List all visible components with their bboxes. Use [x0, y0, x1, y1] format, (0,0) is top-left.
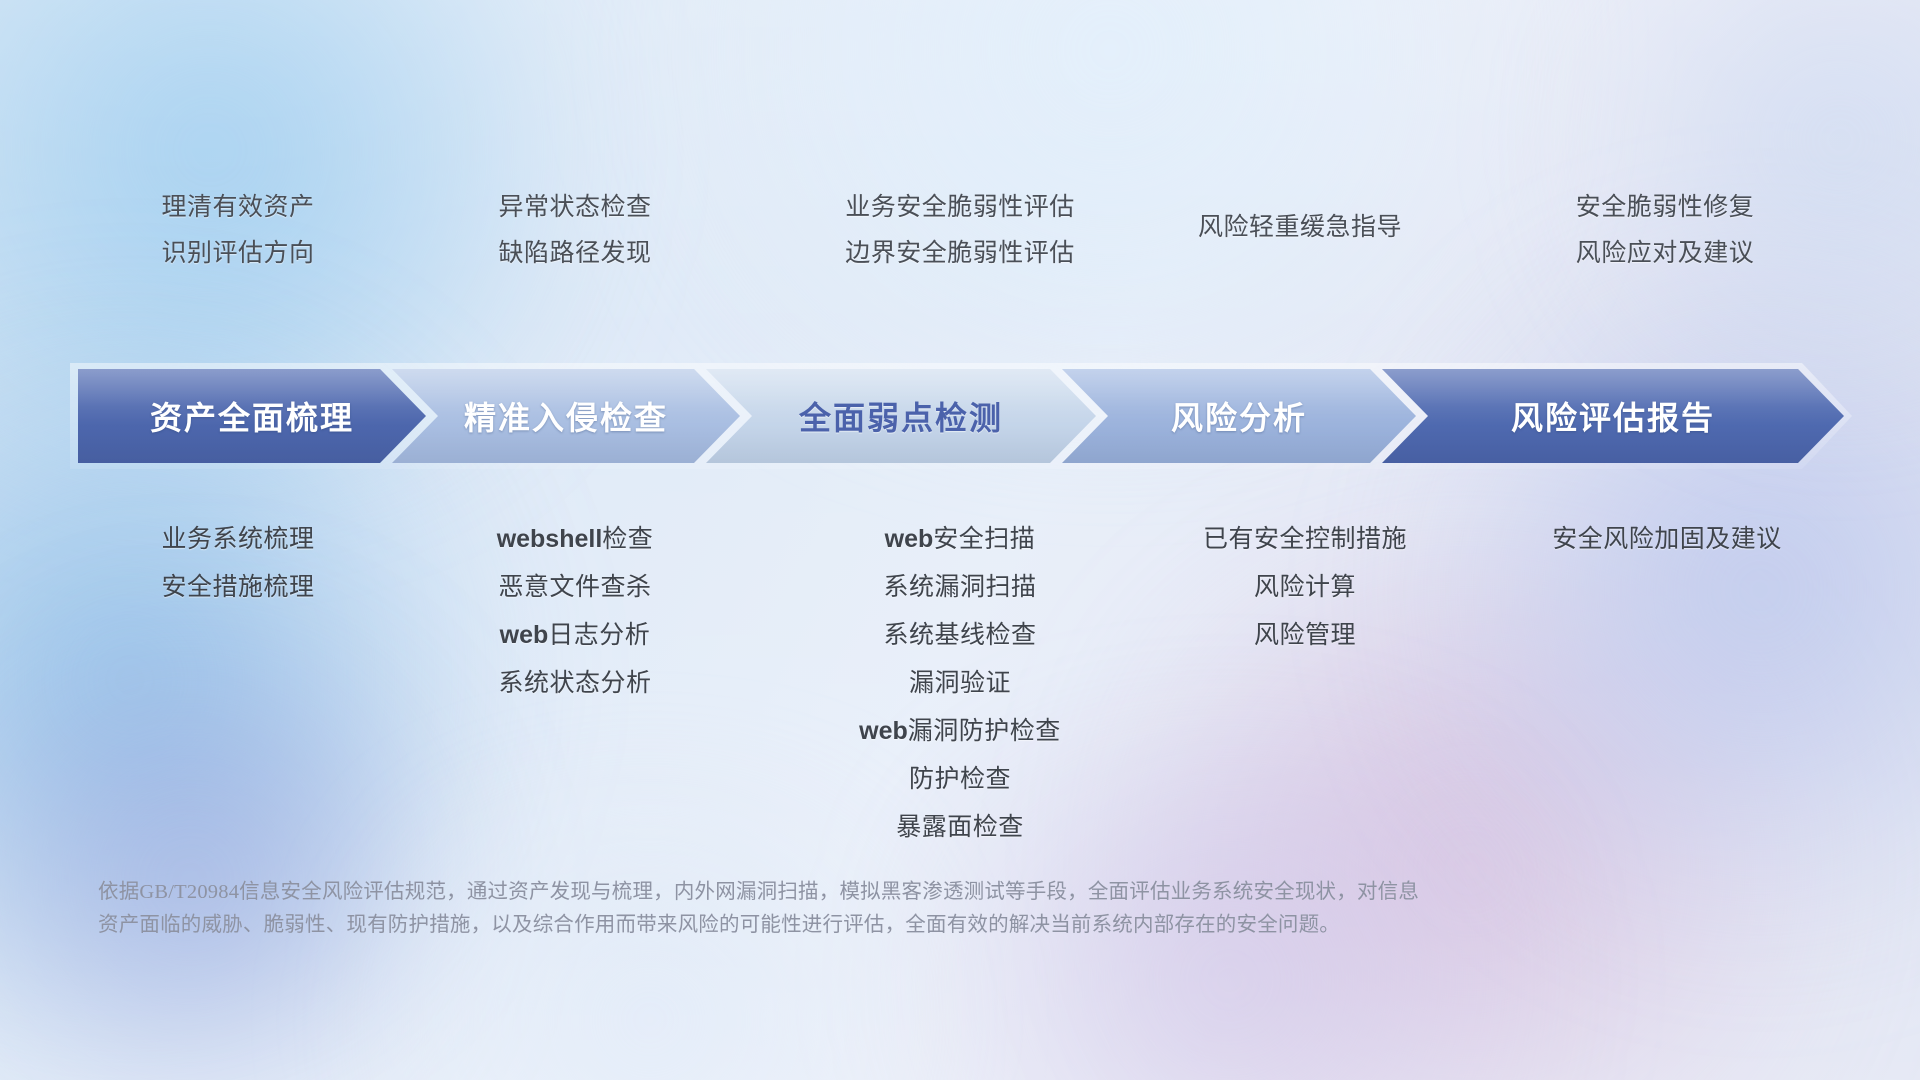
footer-description: 依据GB/T20984信息安全风险评估规范，通过资产发现与梳理，内外网漏洞扫描，…	[98, 876, 1598, 942]
list-item: 安全措施梳理	[78, 563, 398, 611]
list-item: 业务系统梳理	[78, 515, 398, 563]
list-item-text: 安全措施梳理	[161, 573, 314, 601]
chevron-stage-1[interactable]: 资产全面梳理	[78, 369, 426, 463]
list-item-bold: web	[859, 717, 908, 745]
list-item: web日志分析	[415, 611, 735, 659]
top-descriptor-line: 理清有效资产	[78, 184, 398, 230]
list-item-text: 日志分析	[548, 621, 650, 649]
list-item: 风险管理	[1145, 611, 1465, 659]
list-item: 漏洞验证	[780, 659, 1140, 707]
chevron-stage-4[interactable]: 风险分析	[1062, 369, 1416, 463]
list-item-text: 防护检查	[909, 765, 1011, 793]
top-descriptors-col-5: 安全脆弱性修复 风险应对及建议	[1500, 184, 1830, 276]
top-descriptor-row: 理清有效资产 识别评估方向 异常状态检查 缺陷路径发现 业务安全脆弱性评估 边界…	[0, 184, 1920, 294]
list-item-text: 系统基线检查	[883, 621, 1036, 649]
top-descriptors-col-1: 理清有效资产 识别评估方向	[78, 184, 398, 276]
list-item-text: 安全风险加固及建议	[1552, 525, 1782, 553]
list-item-bold: webshell	[497, 525, 603, 553]
chevron-stage-label: 精准入侵检查	[464, 393, 668, 439]
bottom-list-col-1: 业务系统梳理 安全措施梳理	[78, 515, 398, 611]
list-item: 已有安全控制措施	[1145, 515, 1465, 563]
chevron-stage-label: 风险评估报告	[1511, 393, 1715, 439]
chevron-stage-5[interactable]: 风险评估报告	[1382, 369, 1844, 463]
list-item: 风险计算	[1145, 563, 1465, 611]
bottom-list-col-3: web安全扫描 系统漏洞扫描 系统基线检查 漏洞验证 web漏洞防护检查 防护检…	[780, 515, 1140, 851]
list-item-text: 恶意文件查杀	[498, 573, 651, 601]
list-item-text: 系统状态分析	[498, 669, 651, 697]
list-item: 系统基线检查	[780, 611, 1140, 659]
list-item-text: 检查	[602, 525, 653, 553]
list-item-text: 业务系统梳理	[161, 525, 314, 553]
slide-canvas: 理清有效资产 识别评估方向 异常状态检查 缺陷路径发现 业务安全脆弱性评估 边界…	[0, 0, 1920, 1080]
list-item-text: 系统漏洞扫描	[883, 573, 1036, 601]
list-item-text: 漏洞防护检查	[908, 717, 1061, 745]
top-descriptors-col-2: 异常状态检查 缺陷路径发现	[415, 184, 735, 276]
top-descriptor-line: 安全脆弱性修复	[1500, 184, 1830, 230]
top-descriptor-line: 风险应对及建议	[1500, 230, 1830, 276]
bottom-list-col-5: 安全风险加固及建议	[1490, 515, 1844, 563]
top-descriptor-line: 异常状态检查	[415, 184, 735, 230]
list-item-bold: web	[885, 525, 934, 553]
bottom-list-col-4: 已有安全控制措施 风险计算 风险管理	[1145, 515, 1465, 659]
chevron-stage-label: 资产全面梳理	[150, 393, 354, 439]
list-item-text: 安全扫描	[933, 525, 1035, 553]
list-item: 暴露面检查	[780, 803, 1140, 851]
footer-line-2: 资产面临的威胁、脆弱性、现有防护措施，以及综合作用而带来风险的可能性进行评估，全…	[98, 909, 1598, 942]
list-item-text: 漏洞验证	[909, 669, 1011, 697]
list-item: web安全扫描	[780, 515, 1140, 563]
footer-line-1: 依据GB/T20984信息安全风险评估规范，通过资产发现与梳理，内外网漏洞扫描，…	[98, 876, 1598, 909]
process-chevron-bar: 资产全面梳理 精准入侵检查 全面弱点检测 风险分析 风险评估报告	[78, 369, 1844, 463]
list-item: webshell检查	[415, 515, 735, 563]
top-descriptors-col-3: 业务安全脆弱性评估 边界安全脆弱性评估	[780, 184, 1140, 276]
list-item-text: 风险管理	[1254, 621, 1356, 649]
list-item-text: 暴露面检查	[896, 813, 1024, 841]
list-item: 系统状态分析	[415, 659, 735, 707]
list-item: web漏洞防护检查	[780, 707, 1140, 755]
bottom-list-col-2: webshell检查 恶意文件查杀 web日志分析 系统状态分析	[415, 515, 735, 707]
chevron-stage-3[interactable]: 全面弱点检测	[706, 369, 1096, 463]
chevron-stage-label: 风险分析	[1171, 393, 1307, 439]
chevron-stage-2[interactable]: 精准入侵检查	[392, 369, 740, 463]
chevron-stage-label: 全面弱点检测	[799, 393, 1003, 439]
list-item: 防护检查	[780, 755, 1140, 803]
top-descriptor-line: 业务安全脆弱性评估	[780, 184, 1140, 230]
top-descriptor-line: 识别评估方向	[78, 230, 398, 276]
list-item-bold: web	[500, 621, 549, 649]
list-item: 安全风险加固及建议	[1490, 515, 1844, 563]
list-item: 系统漏洞扫描	[780, 563, 1140, 611]
top-descriptor-line: 缺陷路径发现	[415, 230, 735, 276]
list-item-text: 风险计算	[1254, 573, 1356, 601]
top-descriptor-line: 边界安全脆弱性评估	[780, 230, 1140, 276]
list-item-text: 已有安全控制措施	[1203, 525, 1407, 553]
top-descriptor-line: 风险轻重缓急指导	[1135, 204, 1465, 250]
top-descriptors-col-4: 风险轻重缓急指导	[1135, 204, 1465, 250]
list-item: 恶意文件查杀	[415, 563, 735, 611]
